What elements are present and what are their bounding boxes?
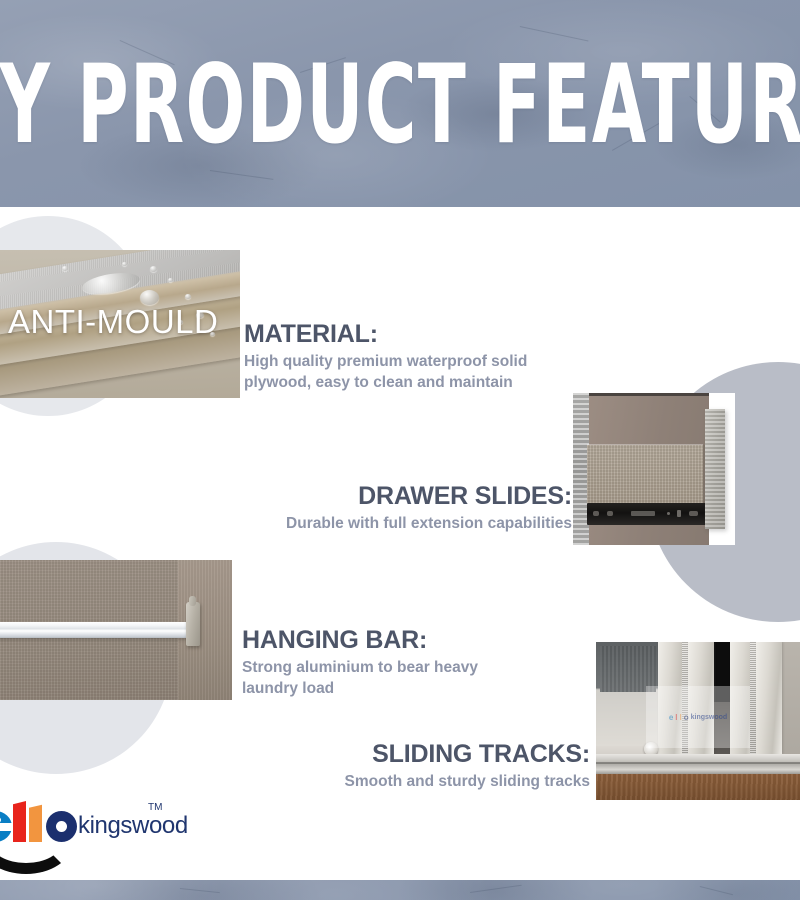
feature-body-hanging-bar: Strong aluminium to bear heavy laundry l… xyxy=(242,658,522,700)
logo-watermark: ello kingswood xyxy=(646,686,750,748)
feature-text-hanging-bar: HANGING BAR: Strong aluminium to bear he… xyxy=(242,626,522,700)
feature-title-drawer-slides: DRAWER SLIDES: xyxy=(232,482,572,511)
feature-body-sliding-tracks: Smooth and sturdy sliding tracks xyxy=(290,772,590,793)
feature-title-material: MATERIAL: xyxy=(244,320,574,349)
sliding-tracks-photo: ello kingswood xyxy=(596,642,800,800)
footer-band xyxy=(0,880,800,900)
brand-logo[interactable]: kingswood TM xyxy=(0,800,198,878)
feature-body-material: High quality premium waterproof solid pl… xyxy=(244,352,574,394)
logo-mark xyxy=(0,800,77,842)
feature-title-hanging-bar: HANGING BAR: xyxy=(242,626,522,655)
logo-smile-icon xyxy=(0,842,72,882)
logo-trademark: TM xyxy=(148,802,162,813)
logo-wordmark: kingswood xyxy=(78,812,188,840)
feature-text-sliding-tracks: SLIDING TRACKS: Smooth and sturdy slidin… xyxy=(290,740,590,793)
feature-body-drawer-slides: Durable with full extension capabilities xyxy=(232,514,572,535)
poster-root: KEY PRODUCT FEATURES ANTI-MOULD MATERIAL… xyxy=(0,0,800,900)
hanging-bar-photo xyxy=(0,560,232,700)
watermark-text: kingswood xyxy=(691,714,728,721)
logo-letter-e-icon xyxy=(0,811,12,842)
logo-letter-o-icon xyxy=(46,811,77,842)
logo-letter-l1-icon xyxy=(13,801,26,842)
anti-mould-overlay-label: ANTI-MOULD xyxy=(8,303,218,341)
drawer-slides-photo xyxy=(573,393,735,545)
page-title: KEY PRODUCT FEATURES xyxy=(28,0,772,238)
logo-letter-l2-icon xyxy=(29,804,42,842)
feature-text-drawer-slides: DRAWER SLIDES: Durable with full extensi… xyxy=(232,482,572,535)
feature-title-sliding-tracks: SLIDING TRACKS: xyxy=(290,740,590,769)
feature-text-material: MATERIAL: High quality premium waterproo… xyxy=(244,320,574,394)
